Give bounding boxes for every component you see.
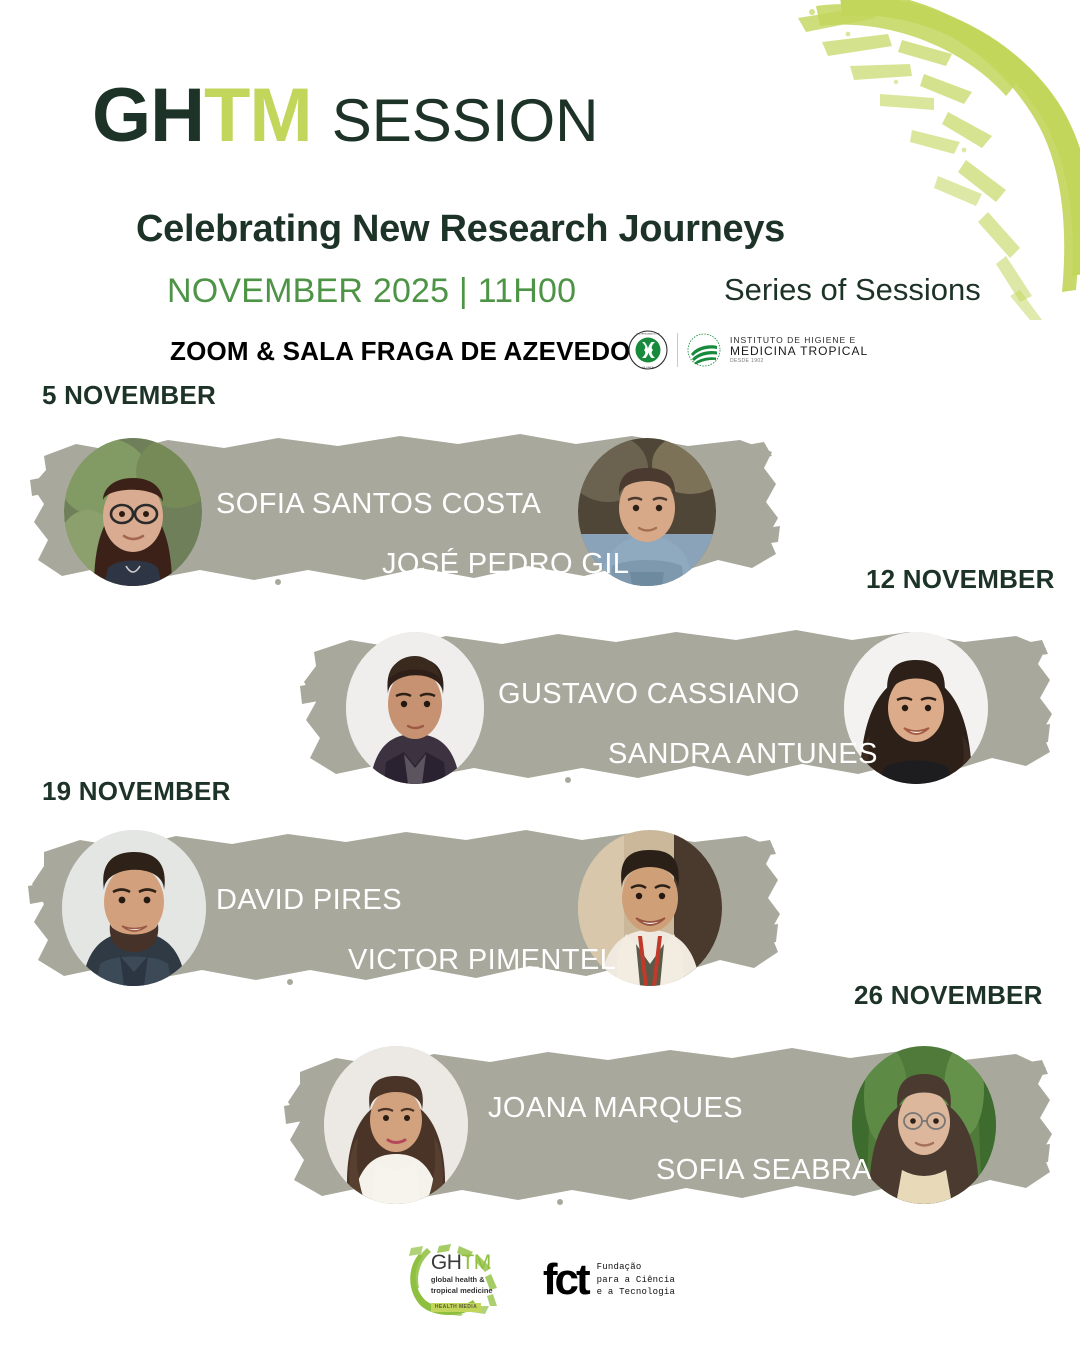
svg-text:UNIVERSIDADE NOVA: UNIVERSIDADE NOVA (636, 333, 660, 336)
ihmt-wave-icon (687, 332, 721, 368)
ghtm-footer-logo-text: GHTM global health & tropical medicine H… (431, 1252, 493, 1313)
ghtm-session-title: GHTM SESSION (92, 78, 598, 154)
poster-venue: ZOOM & SALA FRAGA DE AZEVEDO (170, 336, 631, 367)
poster-canvas: GHTM SESSION Celebrating New Research Jo… (0, 0, 1080, 1350)
session-word-text: SESSION (332, 91, 599, 151)
speaker-avatar (64, 438, 202, 586)
fct-footer-text: Fundação para a Ciência e a Tecnologia (597, 1261, 675, 1299)
fct-footer-logo: fct Fundação para a Ciência e a Tecnolog… (543, 1260, 675, 1300)
speaker-name: SOFIA SEABRA (656, 1154, 872, 1187)
series-of-sessions-label: Series of Sessions (724, 272, 981, 308)
ghtm-footer-logo: GHTM global health & tropical medicine H… (405, 1244, 509, 1316)
fct-line-1: Fundação (597, 1261, 675, 1274)
footer-logos: GHTM global health & tropical medicine H… (0, 1244, 1080, 1316)
ghtm-footer-gh: GH (431, 1251, 462, 1274)
poster-subtitle: Celebrating New Research Journeys (136, 208, 785, 251)
fct-mark: fct (543, 1260, 588, 1300)
speaker-avatar (62, 830, 206, 986)
ghtm-footer-tm: TM (461, 1251, 490, 1274)
speaker-name: SOFIA SANTOS COSTA (216, 488, 541, 521)
ghtm-badge: HEALTH MEDIA (431, 1303, 481, 1312)
speaker-name: JOANA MARQUES (488, 1092, 743, 1125)
speaker-avatar (852, 1046, 996, 1204)
fct-line-3: e a Tecnologia (597, 1286, 675, 1299)
speaker-avatar (324, 1046, 468, 1204)
poster-datetime: NOVEMBER 2025 | 11H00 (167, 272, 576, 311)
speaker-name: DAVID PIRES (216, 884, 402, 917)
ihmt-logo-divider (677, 333, 678, 367)
session-date-label: 19 NOVEMBER (42, 776, 231, 807)
speaker-name: JOSÉ PEDRO GIL (382, 548, 629, 581)
brand-gh-text: GH (92, 78, 204, 154)
fct-line-2: para a Ciência (597, 1274, 675, 1287)
ihmt-seal-icon: UNIVERSIDADE NOVA DE LISBOA (628, 330, 668, 370)
speaker-name: GUSTAVO CASSIANO (498, 678, 800, 711)
session-date-label: 5 NOVEMBER (42, 380, 216, 411)
session-date-label: 12 NOVEMBER (866, 564, 1055, 595)
svg-text:DE LISBOA: DE LISBOA (642, 366, 654, 369)
ghtm-footer-mark: GHTM (431, 1252, 493, 1273)
ghtm-tagline-1: global health & (431, 1275, 493, 1284)
speaker-avatar (346, 632, 484, 784)
ihmt-line-3: DESDE 1902 (730, 359, 868, 364)
ghtm-tagline-2: tropical medicine (431, 1286, 493, 1295)
session-date-label: 26 NOVEMBER (854, 980, 1043, 1011)
speaker-name: VICTOR PIMENTEL (348, 944, 616, 977)
brand-tm-text: TM (204, 78, 312, 154)
ihmt-logo: UNIVERSIDADE NOVA DE LISBOA INSTITUTO DE… (628, 330, 868, 370)
poster-header: GHTM SESSION (92, 78, 598, 154)
ihmt-line-2: MEDICINA TROPICAL (730, 345, 868, 358)
speaker-name: SANDRA ANTUNES (608, 738, 878, 771)
ihmt-logo-text: INSTITUTO DE HIGIENE E MEDICINA TROPICAL… (730, 336, 868, 365)
